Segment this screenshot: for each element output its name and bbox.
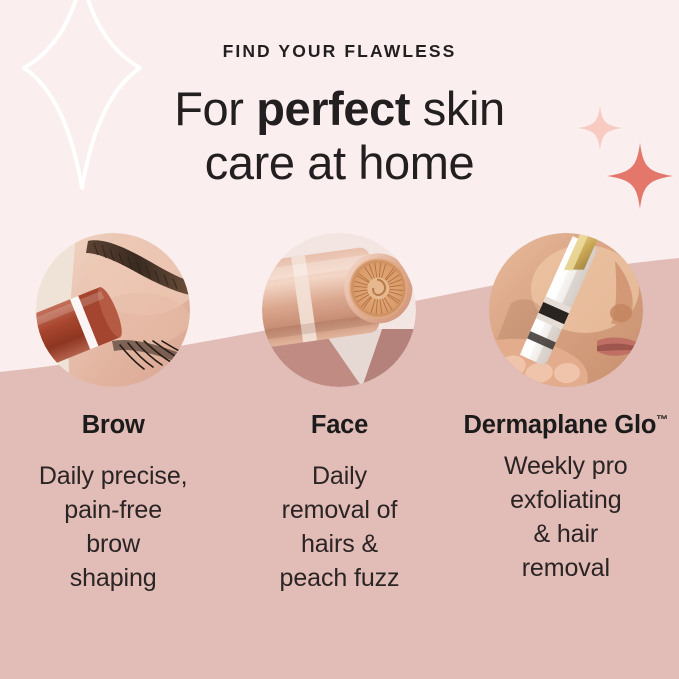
feature-column-dermaplane-glo: Dermaplane Glo™ Weekly pro exfoliating &… bbox=[453, 233, 679, 595]
trademark-symbol: ™ bbox=[656, 413, 668, 427]
feature-title-text: Dermaplane Glo bbox=[464, 411, 657, 439]
headline-line1: For perfect skin bbox=[174, 82, 505, 135]
photo-face-hair-remover bbox=[262, 233, 416, 387]
photo-dermaplane-tool bbox=[489, 233, 643, 387]
feature-title-brow: Brow bbox=[82, 411, 145, 441]
feature-title-dermaplane-glo: Dermaplane Glo™ bbox=[464, 411, 669, 441]
feature-column-brow: Brow Daily precise, pain-free brow shapi… bbox=[0, 233, 226, 595]
headline-emphasis: perfect bbox=[256, 82, 410, 135]
feature-body-dermaplane-glo: Weekly pro exfoliating & hair removal bbox=[504, 449, 628, 585]
feature-columns: Brow Daily precise, pain-free brow shapi… bbox=[0, 233, 679, 595]
feature-body-brow: Daily precise, pain-free brow shaping bbox=[39, 459, 188, 595]
feature-body-face: Daily removal of hairs & peach fuzz bbox=[280, 459, 400, 595]
headline-line2: care at home bbox=[205, 136, 475, 189]
photo-brow-trimmer bbox=[36, 233, 190, 387]
feature-column-face: Face Daily removal of hairs & peach fuzz bbox=[226, 233, 452, 595]
header: FIND YOUR FLAWLESS For perfect skin care… bbox=[0, 0, 679, 191]
page-title: For perfect skin care at home bbox=[0, 82, 679, 191]
feature-title-face: Face bbox=[311, 411, 368, 441]
promo-banner: FIND YOUR FLAWLESS For perfect skin care… bbox=[0, 0, 679, 679]
eyebrow-text: FIND YOUR FLAWLESS bbox=[0, 43, 679, 61]
